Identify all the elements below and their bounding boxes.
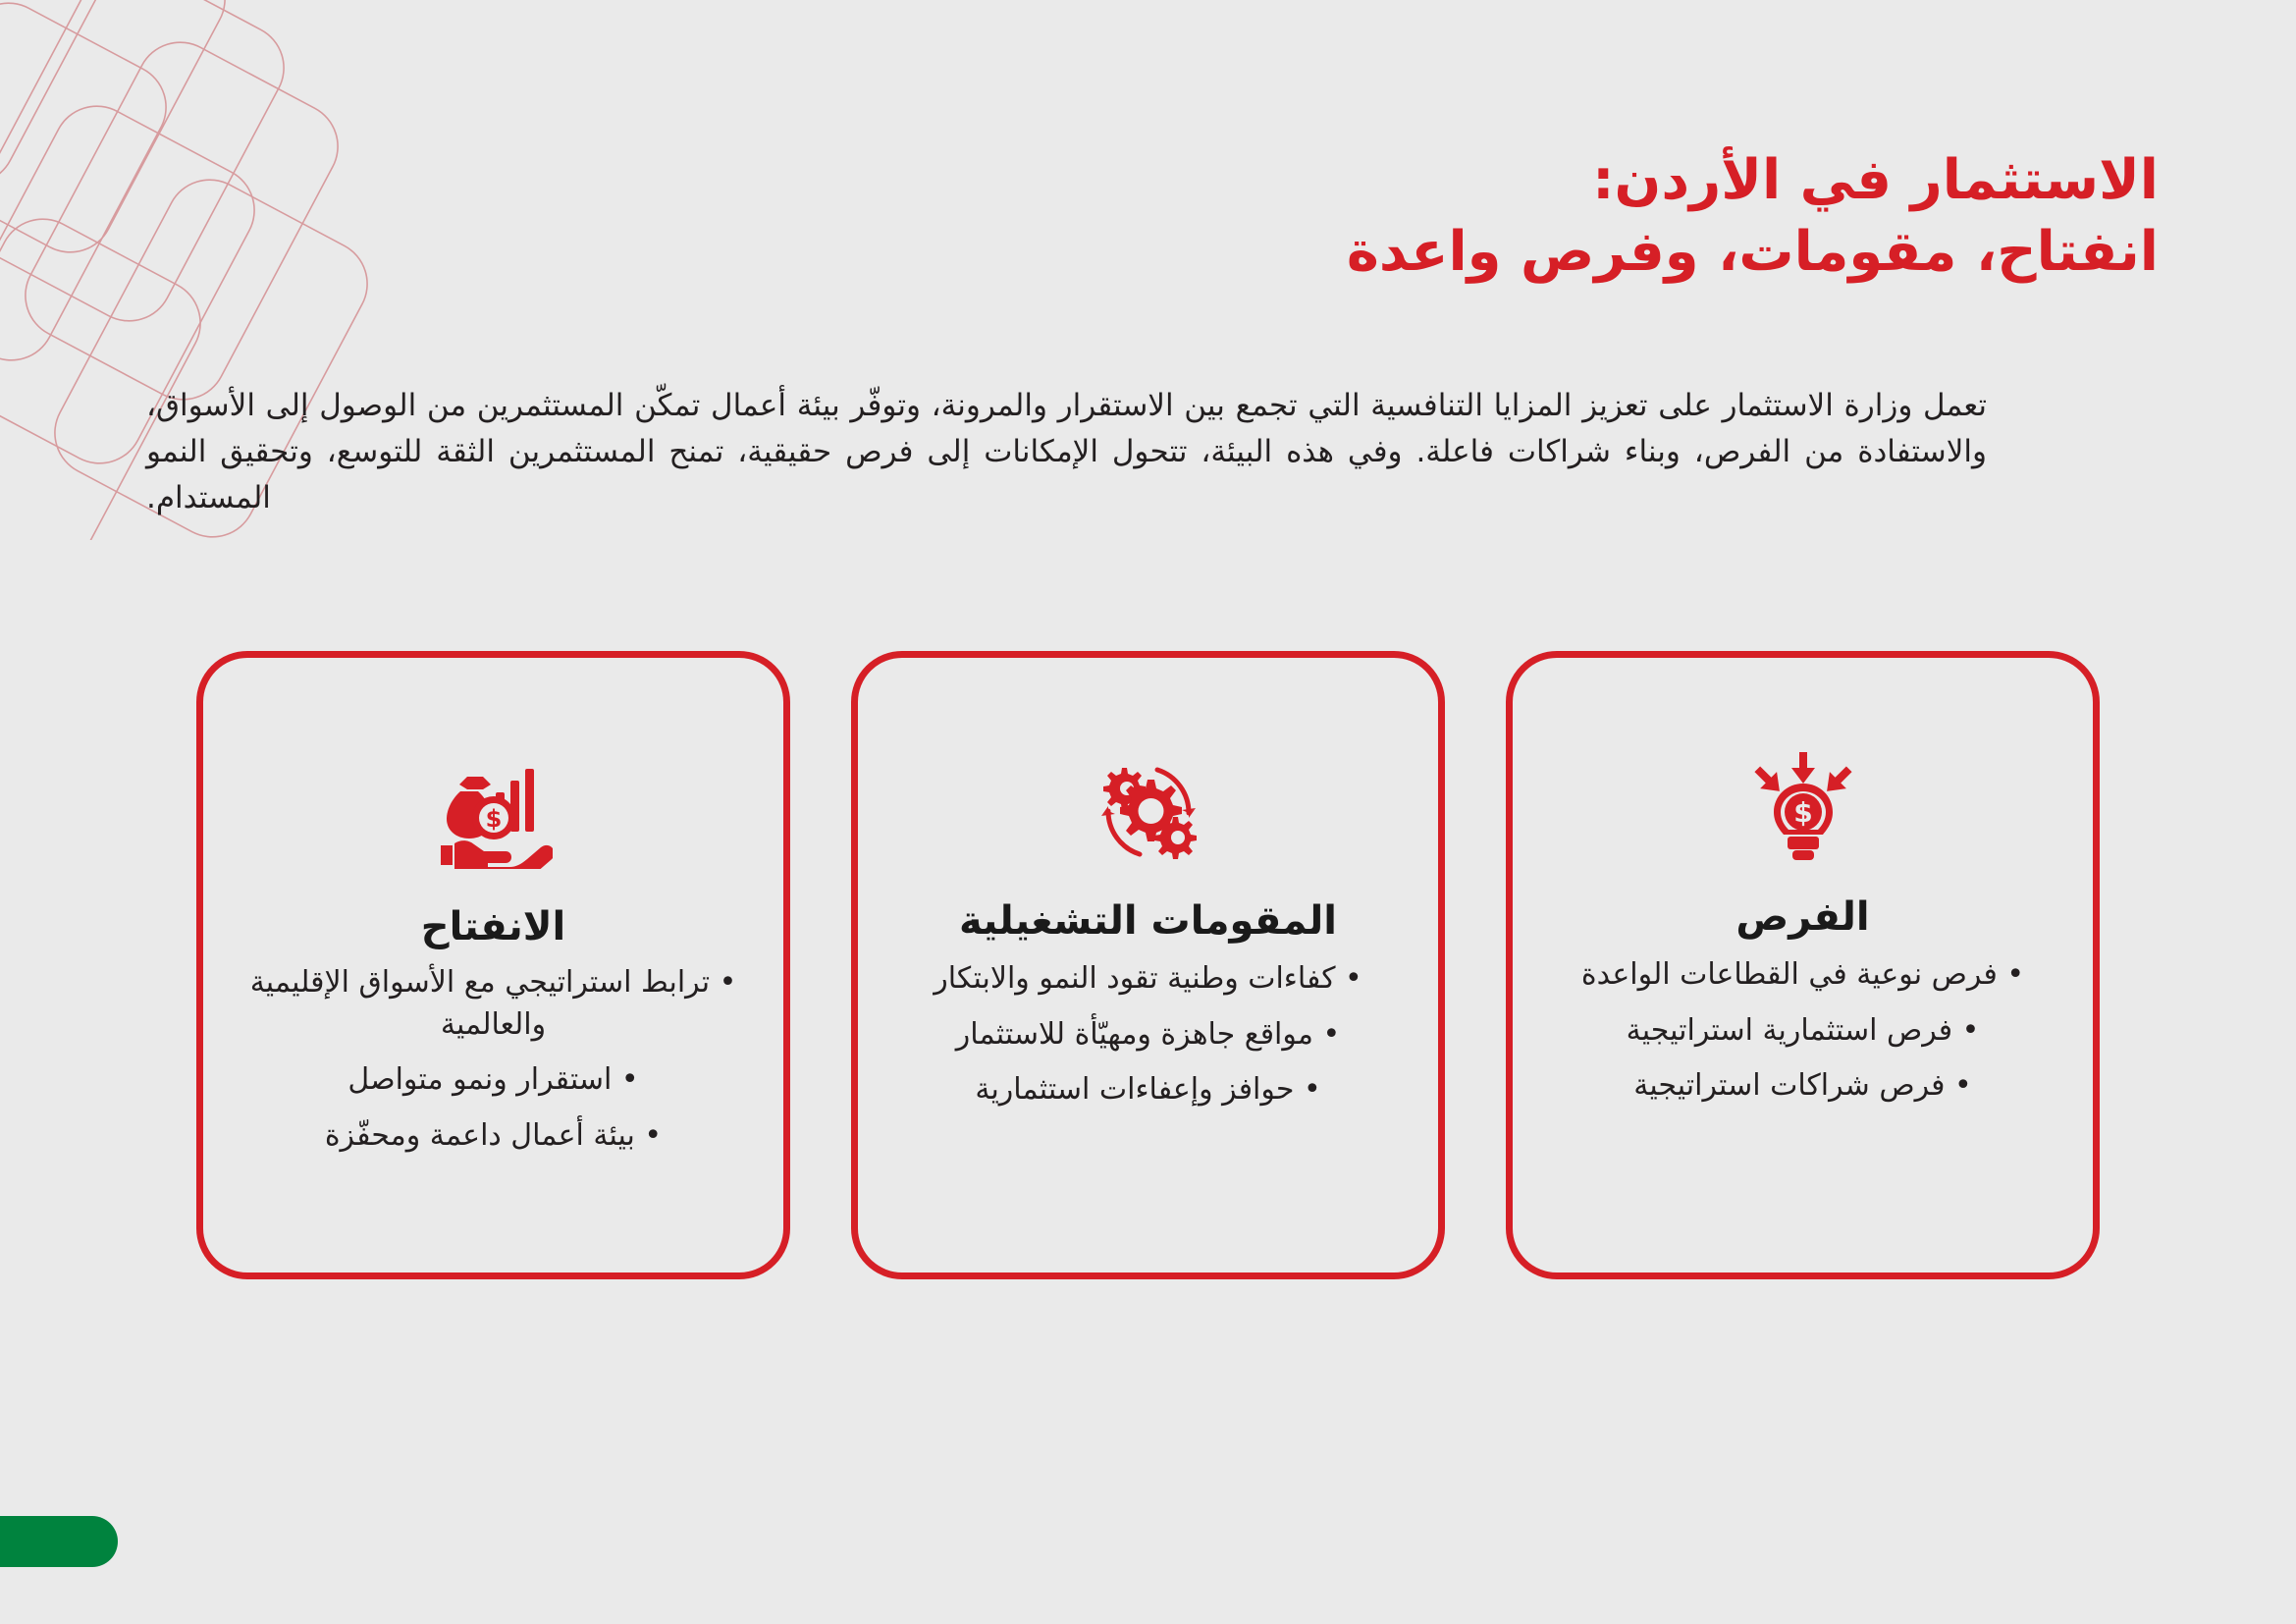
svg-text:$: $ (485, 805, 502, 833)
card-opportunities-title: الفرص (1735, 893, 1869, 941)
page-number-badge: 3 (0, 1516, 118, 1567)
page-title-line-1: الاستثمار في الأردن: (882, 145, 2159, 217)
list-item: • حوافز وإعفاءات استثمارية (893, 1069, 1403, 1111)
card-opportunities[interactable]: $ الفرص • فرص نوعية في القطاعات الواعدة … (1506, 651, 2100, 1279)
list-item: • فرص استثمارية استراتيجية (1548, 1010, 2057, 1053)
card-operational-foundations[interactable]: المقومات التشغيلية • كفاءات وطنية تقود ا… (851, 651, 1445, 1279)
lightbulb-dollar-icon: $ (1748, 732, 1858, 880)
hand-money-growth-icon: $ (435, 742, 553, 890)
pillar-cards-row: $ الانفتاح • ترابط استراتيجي مع الأسواق … (196, 651, 2100, 1279)
list-item: • كفاءات وطنية تقود النمو والابتكار (893, 958, 1403, 1001)
page-title: الاستثمار في الأردن: انفتاح، مقومات، وفر… (882, 145, 2159, 289)
list-item: • مواقع جاهزة ومهيّأة للاستثمار (893, 1014, 1403, 1056)
card-openness-list: • ترابط استراتيجي مع الأسواق الإقليمية و… (239, 962, 748, 1170)
list-item: • فرص نوعية في القطاعات الواعدة (1548, 954, 2057, 997)
page-title-line-2: انفتاح، مقومات، وفرص واعدة (882, 217, 2159, 289)
list-item: • بيئة أعمال داعمة ومحفّزة (239, 1115, 748, 1158)
slide-root: الاستثمار في الأردن: انفتاح، مقومات، وفر… (0, 0, 2296, 1624)
card-openness[interactable]: $ الانفتاح • ترابط استراتيجي مع الأسواق … (196, 651, 790, 1279)
card-openness-title: الانفتاح (421, 903, 565, 950)
gears-process-icon (1091, 736, 1206, 884)
card-operational-list: • كفاءات وطنية تقود النمو والابتكار • مو… (893, 958, 1403, 1125)
card-opportunities-list: • فرص نوعية في القطاعات الواعدة • فرص اس… (1548, 954, 2057, 1121)
intro-paragraph: تعمل وزارة الاستثمار على تعزيز المزايا ا… (146, 383, 1987, 521)
card-operational-title: المقومات التشغيلية (959, 897, 1337, 945)
list-item: • ترابط استراتيجي مع الأسواق الإقليمية و… (239, 962, 748, 1046)
list-item: • استقرار ونمو متواصل (239, 1059, 748, 1102)
list-item: • فرص شراكات استراتيجية (1548, 1065, 2057, 1108)
svg-text:$: $ (1793, 796, 1812, 829)
